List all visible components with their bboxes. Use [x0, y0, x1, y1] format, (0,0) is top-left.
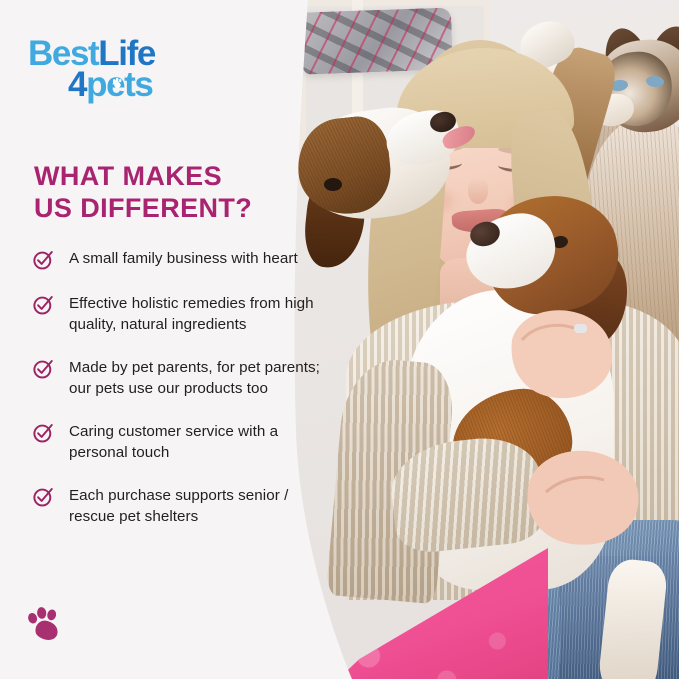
list-item: Made by pet parents, for pet parents; ou…: [32, 357, 332, 399]
page-title-line1: WHAT MAKES: [34, 160, 314, 192]
list-item: Each purchase supports senior / rescue p…: [32, 485, 332, 527]
brand-logo-p: p: [86, 65, 106, 104]
brand-logo-e-with-paw: e: [106, 68, 124, 102]
check-circle-icon: [32, 422, 54, 444]
brand-logo[interactable]: BestLife 4pets: [28, 36, 218, 102]
paw-print-icon: [24, 602, 66, 644]
benefits-list: A small family business with heart Effec…: [32, 248, 332, 549]
list-item-label: Made by pet parents, for pet parents; ou…: [69, 357, 332, 399]
page-title-line2: US DIFFERENT?: [34, 192, 314, 224]
check-circle-icon: [32, 294, 54, 316]
list-item-label: Each purchase supports senior / rescue p…: [69, 485, 332, 527]
page-title: WHAT MAKES US DIFFERENT?: [34, 160, 314, 224]
list-item: Effective holistic remedies from high qu…: [32, 293, 332, 335]
list-item-label: A small family business with heart: [69, 248, 298, 269]
list-item-label: Caring customer service with a personal …: [69, 421, 332, 463]
check-circle-icon: [32, 486, 54, 508]
list-item-label: Effective holistic remedies from high qu…: [69, 293, 332, 335]
brand-logo-ts: ts: [124, 65, 152, 104]
logo-paw-icon: [111, 77, 124, 90]
woman-hand-lower: [518, 436, 648, 556]
check-circle-icon: [32, 358, 54, 380]
advert-canvas: BestLife 4pets WHAT MAKES US DIFFERENT? …: [0, 0, 679, 679]
check-circle-icon: [32, 249, 54, 271]
woman-nose: [468, 178, 488, 204]
woman-hand-upper: [500, 300, 620, 410]
list-item: A small family business with heart: [32, 248, 332, 271]
brand-logo-line2: 4pets: [68, 68, 218, 102]
list-item: Caring customer service with a personal …: [32, 421, 332, 463]
content-panel: BestLife 4pets WHAT MAKES US DIFFERENT? …: [0, 0, 330, 679]
brand-logo-four: 4: [68, 65, 86, 104]
